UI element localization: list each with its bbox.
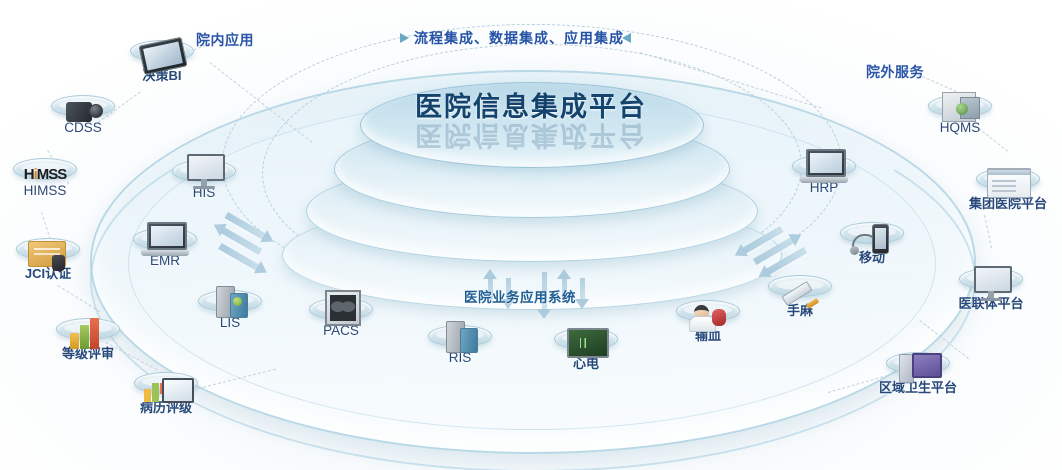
node-ecg[interactable]: 心电: [538, 328, 634, 372]
callout-integration: 流程集成、数据集成、应用集成: [414, 28, 624, 48]
tablet-icon: [138, 38, 186, 74]
bar-chart-icon: [64, 316, 112, 352]
flow-arrow-right-icon: [400, 33, 409, 43]
laptop-icon: [141, 222, 189, 258]
node-himss[interactable]: HiMSS HIMSS: [0, 158, 93, 198]
node-transfusion[interactable]: 输血: [660, 300, 756, 344]
node-pacs[interactable]: PACS: [293, 298, 389, 338]
node-regional[interactable]: 区域卫生平台: [870, 352, 966, 396]
diagram-canvas: 基础数据中心 临床数据中心 运营数据中心 医院信息集成平台 医院信息集成平台 院…: [0, 0, 1062, 470]
himss-logo-icon: HiMSS: [21, 152, 69, 188]
purple-pc-icon: [894, 350, 942, 386]
certificate-icon: [24, 236, 72, 272]
monitor-icon: [967, 266, 1015, 302]
node-group-hospital[interactable]: 集团医院平台: [960, 168, 1056, 212]
node-lis[interactable]: LIS: [182, 290, 278, 330]
monitor-icon: [180, 154, 228, 190]
ecg-monitor-icon: [562, 326, 610, 362]
business-arrow-down-3: [578, 278, 587, 300]
flow-arrow-left-icon: [622, 33, 631, 43]
node-ris[interactable]: RIS: [412, 325, 508, 365]
chart-laptop-icon: [142, 370, 190, 406]
blood-bag-icon: [684, 298, 732, 334]
node-mobile[interactable]: 移动: [824, 222, 920, 266]
node-record-grading[interactable]: 病历评级: [118, 372, 214, 416]
node-alliance[interactable]: 医联体平台: [943, 268, 1039, 312]
server-icon: [436, 319, 484, 355]
node-jci[interactable]: JCI认证: [0, 238, 96, 282]
xray-icon: [317, 292, 365, 328]
connector-group-alliance: [984, 215, 992, 248]
node-grading[interactable]: 等级评审: [40, 318, 136, 362]
syringe-icon: [776, 273, 824, 309]
laptop-icon: [800, 149, 848, 185]
node-emr[interactable]: EMR: [117, 228, 213, 268]
mobile-steth-icon: [848, 220, 896, 256]
web-window-icon: [984, 166, 1032, 202]
node-hrp[interactable]: HRP: [776, 155, 872, 195]
callout-off-site: 院外服务: [866, 62, 924, 82]
node-his[interactable]: HIS: [156, 160, 252, 200]
node-bi[interactable]: 决策BI: [114, 40, 210, 84]
node-anesthesia[interactable]: 手麻: [752, 275, 848, 319]
page-title: 医院信息集成平台: [0, 85, 1062, 124]
server-icon: [206, 284, 254, 320]
callout-business-systems: 医院业务应用系统: [464, 286, 576, 306]
